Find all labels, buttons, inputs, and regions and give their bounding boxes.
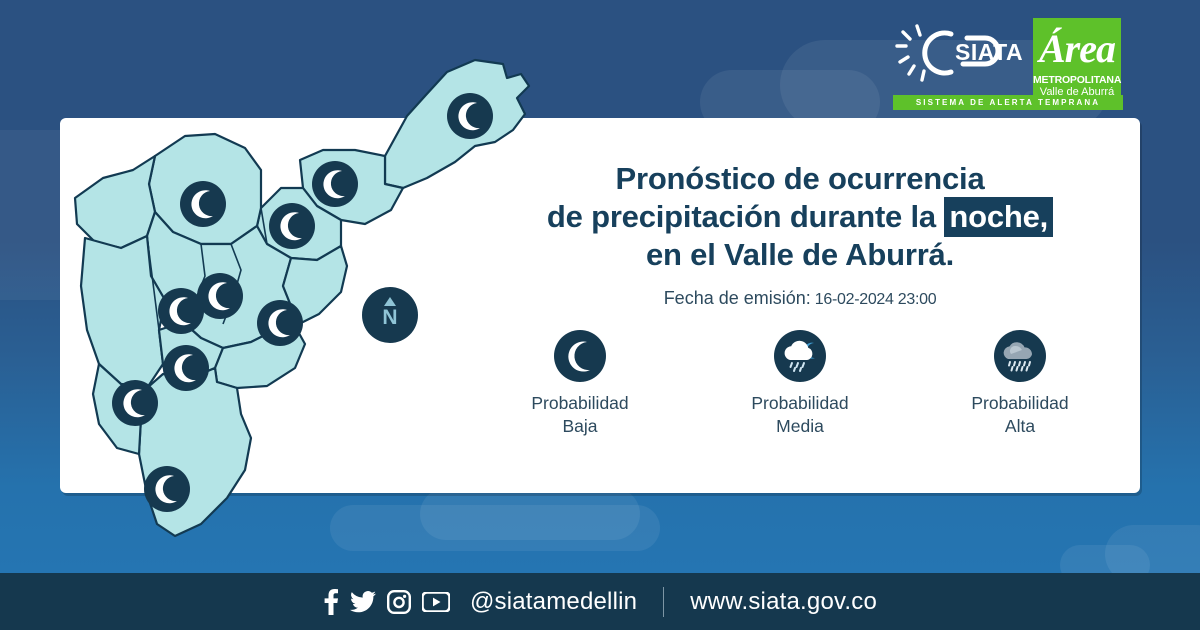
footer-divider — [663, 587, 664, 617]
marker-copacabana[interactable] — [269, 203, 315, 249]
social-handle[interactable]: @siatamedellin — [470, 588, 637, 616]
siata-logo: SIATA — [893, 22, 1023, 84]
website-url[interactable]: www.siata.gov.co — [690, 588, 877, 616]
legend-label-line1: Probabilidad — [490, 392, 670, 415]
marker-bello[interactable] — [180, 181, 226, 227]
moon-icon — [554, 330, 606, 382]
issued-date: Fecha de emisión:16-02-2024 23:00 — [470, 288, 1130, 309]
compass-north-icon: N — [362, 287, 418, 343]
title-line-2: de precipitación durante la noche, — [470, 198, 1130, 236]
title-highlight-noche: noche, — [944, 197, 1053, 237]
legend-label-line2: Media — [710, 415, 890, 438]
headline-panel: Pronóstico de ocurrencia de precipitació… — [470, 160, 1130, 309]
legend-label-alta: Probabilidad Alta — [930, 392, 1110, 438]
marker-envigado[interactable] — [257, 300, 303, 346]
legend-item-alta[interactable]: Probabilidad Alta — [930, 330, 1110, 438]
facebook-icon[interactable] — [323, 589, 339, 615]
legend-item-baja[interactable]: Probabilidad Baja — [490, 330, 670, 438]
marker-barbosa[interactable] — [447, 93, 493, 139]
svg-text:SIATA: SIATA — [955, 39, 1023, 65]
legend: Probabilidad Baja Probabilidad Media — [470, 330, 1130, 438]
marker-itagui[interactable] — [158, 288, 204, 334]
twitter-icon[interactable] — [350, 591, 376, 613]
instagram-icon[interactable] — [387, 590, 411, 614]
area-logo-script: Área — [1033, 22, 1121, 76]
marker-caldas[interactable] — [144, 466, 190, 512]
cloud-rain-moon-icon — [774, 330, 826, 382]
legend-label-line2: Baja — [490, 415, 670, 438]
area-logo-line1: METROPOLITANA — [1033, 74, 1121, 86]
municipality-northwest — [75, 156, 155, 248]
social-icons — [323, 589, 450, 615]
infographic-canvas: SIATA Área METROPOLITANA Valle de Aburrá… — [0, 0, 1200, 630]
title-line-2-text: de precipitación durante la — [547, 199, 936, 234]
legend-item-media[interactable]: Probabilidad Media — [710, 330, 890, 438]
legend-label-media: Probabilidad Media — [710, 392, 890, 438]
page-title: Pronóstico de ocurrencia de precipitació… — [470, 160, 1130, 274]
issued-date-value: 16-02-2024 23:00 — [815, 291, 937, 308]
compass-label: N — [362, 307, 418, 329]
legend-label-baja: Probabilidad Baja — [490, 392, 670, 438]
legend-label-line1: Probabilidad — [710, 392, 890, 415]
north-arrow-icon — [384, 297, 396, 306]
cloud-heavy-rain-icon — [994, 330, 1046, 382]
footer-bar: @siatamedellin www.siata.gov.co — [0, 573, 1200, 630]
marker-sabaneta[interactable] — [163, 345, 209, 391]
title-line-3: en el Valle de Aburrá. — [470, 236, 1130, 274]
title-line-1: Pronóstico de ocurrencia — [470, 160, 1130, 198]
marker-girardota[interactable] — [312, 161, 358, 207]
legend-label-line1: Probabilidad — [930, 392, 1110, 415]
tagline-banner: SISTEMA DE ALERTA TEMPRANA — [893, 95, 1123, 110]
issued-date-label: Fecha de emisión: — [664, 288, 811, 308]
marker-la-estrella[interactable] — [112, 380, 158, 426]
legend-label-line2: Alta — [930, 415, 1110, 438]
youtube-icon[interactable] — [422, 592, 450, 612]
